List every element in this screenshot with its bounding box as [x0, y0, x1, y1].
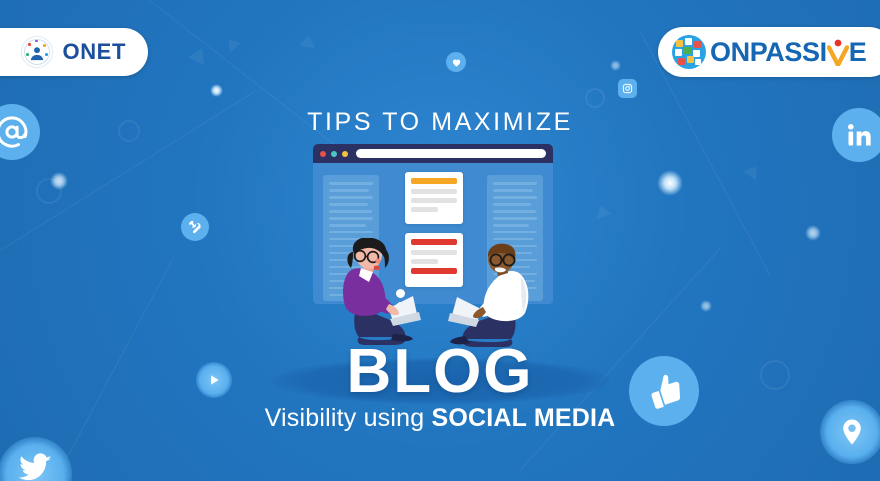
onet-logo-text: ONET [62, 39, 126, 65]
page-subtitle-plain: Visibility using [265, 404, 432, 432]
blog-banner: ONET ONPASSI E TIPS TO MAXIMIZE [0, 0, 880, 481]
twitter-icon [0, 437, 72, 481]
person-network-icon [21, 36, 53, 68]
browser-url-bar[interactable] [356, 149, 546, 158]
bg-triangle-1 [188, 45, 210, 65]
bg-glow-1 [210, 84, 223, 97]
bg-triangle-4 [592, 203, 611, 220]
page-subtitle-bold: SOCIAL MEDIA [432, 404, 616, 432]
heart-icon [446, 52, 466, 72]
post-card-header-accent [411, 178, 457, 184]
bg-ring-2 [585, 88, 605, 108]
bg-triangle-5 [743, 161, 763, 180]
wrench-icon [181, 213, 209, 241]
instagram-icon [618, 79, 637, 98]
onpassive-logo-text: ONPASSI E [710, 37, 866, 68]
post-card-featured [405, 172, 463, 224]
page-kicker: TIPS TO MAXIMIZE [0, 108, 880, 137]
bg-triangle-2 [223, 35, 241, 52]
bg-glow-4 [805, 225, 821, 241]
woman-with-laptop [327, 238, 435, 350]
bg-triangle-3 [299, 34, 317, 49]
onet-logo[interactable]: ONET [0, 28, 148, 76]
browser-dot-yellow [342, 151, 348, 157]
colored-globe-icon [672, 35, 706, 69]
bg-glow-2 [657, 170, 683, 196]
onpassive-logo[interactable]: ONPASSI E [658, 27, 880, 77]
browser-titlebar [313, 144, 553, 163]
onpassive-logo-text-tail: E [849, 37, 867, 67]
onpassive-v-figure-icon [827, 38, 849, 65]
bg-glow-3 [50, 172, 68, 190]
page-title: BLOG [0, 336, 880, 407]
bg-glow-5 [700, 300, 712, 312]
onpassive-logo-text-main: ONPASSI [710, 37, 827, 67]
bg-glow-6 [610, 60, 621, 71]
page-subtitle: Visibility using SOCIAL MEDIA [0, 404, 880, 433]
browser-dot-red [320, 151, 326, 157]
browser-dot-teal [331, 151, 337, 157]
